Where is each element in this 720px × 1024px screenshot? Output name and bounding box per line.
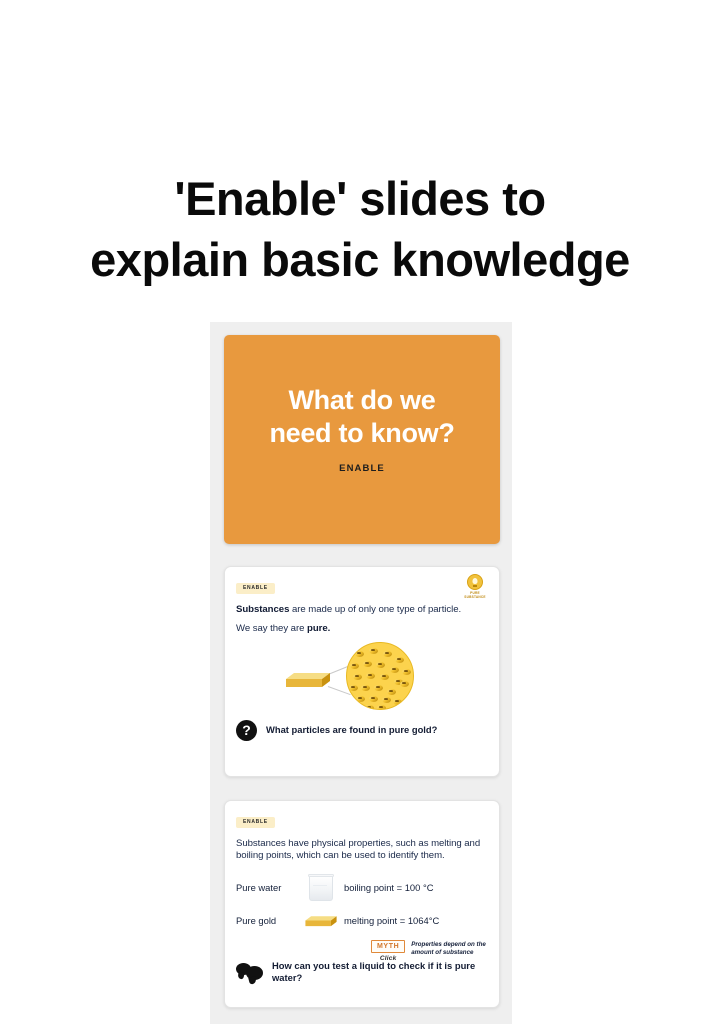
paragraph-bold-tail: pure.	[307, 623, 330, 634]
gold-bar-icon	[284, 670, 332, 691]
page-title: 'Enable' slides to explain basic knowled…	[0, 168, 720, 290]
slide-title-card[interactable]: What do we need to know? ENABLE	[224, 335, 500, 544]
myth-callout[interactable]: MYTH Click Properties depend on the amou…	[371, 940, 499, 962]
paragraph-lead: We say they are	[236, 623, 307, 634]
slide-card-physical-properties[interactable]: ENABLE Substances have physical properti…	[224, 800, 500, 1008]
page-title-line-1: 'Enable' slides to	[0, 168, 720, 229]
property-value: boiling point = 100 °C	[344, 882, 434, 894]
paragraph-properties: Substances have physical properties, suc…	[236, 838, 488, 863]
speech-bubbles-icon	[236, 963, 263, 981]
paragraph-rest: are made up of only one type of particle…	[289, 604, 461, 615]
question-mark-icon: ?	[236, 720, 257, 741]
property-label: Pure water	[236, 882, 298, 894]
slide-title-line-2: need to know?	[269, 417, 454, 450]
lightbulb-badge-icon	[467, 574, 483, 590]
property-row-pure-gold: Pure gold melting point = 1064°C	[236, 914, 488, 929]
myth-text: Properties depend on the amount of subst…	[411, 941, 499, 956]
discussion-row: How can you test a liquid to check if it…	[236, 960, 488, 984]
slide-title-heading: What do we need to know?	[269, 384, 454, 450]
question-text: What particles are found in pure gold?	[266, 724, 437, 736]
pure-substance-badge: PURE SUBSTANCE	[460, 574, 490, 599]
property-value: melting point = 1064°C	[344, 915, 439, 927]
property-row-pure-water: Pure water boiling point = 100 °C	[236, 876, 488, 901]
discussion-text: How can you test a liquid to check if it…	[272, 960, 488, 984]
magnified-particles-circle	[346, 642, 414, 710]
badge-caption-line-2: SUBSTANCE	[460, 595, 490, 599]
beaker-icon	[298, 876, 344, 901]
paragraph-pure: We say they are pure.	[236, 623, 488, 635]
page-title-line-2: explain basic knowledge	[0, 229, 720, 290]
paragraph-bold-lead: Substances	[236, 604, 289, 615]
slide-title-line-1: What do we	[269, 384, 454, 417]
myth-label[interactable]: MYTH	[371, 940, 405, 953]
property-label: Pure gold	[236, 915, 298, 927]
enable-tag: ENABLE	[236, 817, 275, 828]
question-row: ? What particles are found in pure gold?	[236, 720, 488, 741]
paragraph-substances: Substances are made up of only one type …	[236, 604, 488, 616]
slide-title-subtitle: ENABLE	[339, 463, 385, 474]
gold-particle-illustration	[236, 640, 488, 712]
gold-bar-icon	[298, 914, 344, 929]
enable-tag: ENABLE	[236, 583, 275, 594]
slide-card-pure-substances[interactable]: ENABLE PURE SUBSTANCE Substances are mad…	[224, 566, 500, 777]
myth-click-hint: Click	[371, 955, 405, 962]
